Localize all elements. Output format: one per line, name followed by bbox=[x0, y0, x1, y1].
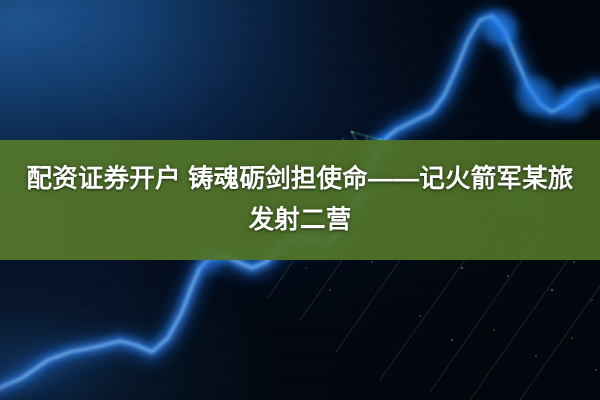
title-container: 配资证券开户 铸魂砺剑担使命——记火箭军某旅发射二营 bbox=[0, 140, 600, 260]
page-title: 配资证券开户 铸魂砺剑担使命——记火箭军某旅发射二营 bbox=[20, 159, 580, 241]
thumbnail-image: 配资证券开户 铸魂砺剑担使命——记火箭军某旅发射二营 bbox=[0, 0, 600, 400]
